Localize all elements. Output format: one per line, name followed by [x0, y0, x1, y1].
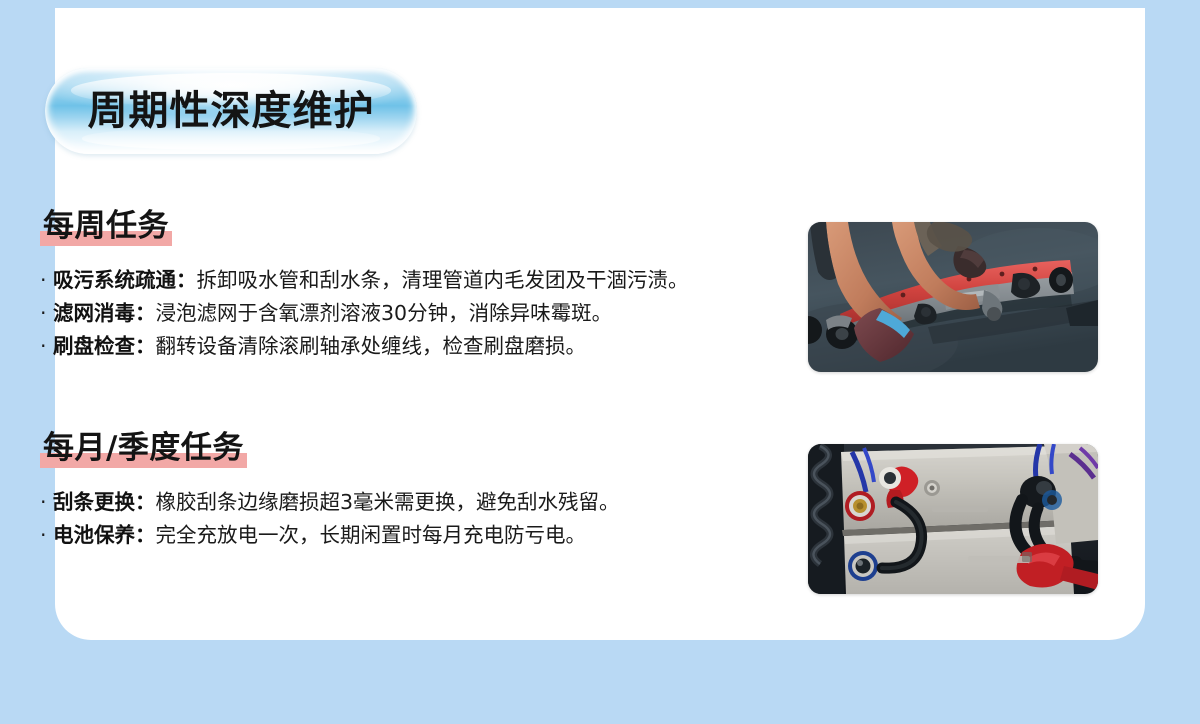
section-title-badge: 周期性深度维护 [45, 68, 417, 154]
bullet-dot-icon: · [40, 331, 53, 361]
bullet-text: 浸泡滤网于含氧漂剂溶液30分钟，消除异味霉斑。 [156, 301, 613, 325]
bullet-text: 翻转设备清除滚刷轴承处缠线，检查刷盘磨损。 [156, 334, 587, 358]
list-item: · 吸污系统疏通：拆卸吸水管和刮水条，清理管道内毛发团及干涸污渍。 [40, 265, 800, 295]
list-item: · 滤网消毒：浸泡滤网于含氧漂剂溶液30分钟，消除异味霉斑。 [40, 298, 800, 328]
bullet-label: 电池保养： [53, 523, 156, 547]
monthly-task-list: · 刮条更换：橡胶刮条边缘磨损超3毫米需更换，避免刮水残留。 · 电池保养：完全… [40, 487, 800, 551]
bullet-text: 拆卸吸水管和刮水条，清理管道内毛发团及干涸污渍。 [197, 268, 689, 292]
section-monthly-heading-text: 每月/季度任务 [43, 430, 244, 466]
weekly-task-list: · 吸污系统疏通：拆卸吸水管和刮水条，清理管道内毛发团及干涸污渍。 · 滤网消毒… [40, 265, 800, 362]
bullet-text: 橡胶刮条边缘磨损超3毫米需更换，避免刮水残留。 [156, 490, 620, 514]
bullet-label: 刷盘检查： [53, 334, 156, 358]
section-title-text: 周期性深度维护 [88, 91, 375, 131]
section-weekly-heading-text: 每周任务 [43, 208, 169, 244]
section-weekly-tasks: 每周任务 · 吸污系统疏通：拆卸吸水管和刮水条，清理管道内毛发团及干涸污渍。 ·… [40, 208, 800, 365]
bullet-text: 完全充放电一次，长期闲置时每月充电防亏电。 [156, 523, 587, 547]
bullet-label: 吸污系统疏通： [53, 268, 197, 292]
bullet-label: 滤网消毒： [53, 301, 156, 325]
bullet-label: 刮条更换： [53, 490, 156, 514]
bullet-dot-icon: · [40, 487, 53, 517]
bullet-dot-icon: · [40, 520, 53, 550]
bullet-dot-icon: · [40, 298, 53, 328]
page-root: 周期性深度维护 每周任务 · 吸污系统疏通：拆卸吸水管和刮水条，清理管道内毛发团… [0, 0, 1200, 724]
bullet-dot-icon: · [40, 265, 53, 295]
list-item: · 刷盘检查：翻转设备清除滚刷轴承处缠线，检查刷盘磨损。 [40, 331, 800, 361]
section-monthly-tasks: 每月/季度任务 · 刮条更换：橡胶刮条边缘磨损超3毫米需更换，避免刮水残留。 ·… [40, 430, 800, 553]
battery-maintenance-photo [808, 444, 1098, 594]
list-item: · 电池保养：完全充放电一次，长期闲置时每月充电防亏电。 [40, 520, 800, 550]
squeegee-maintenance-photo [808, 222, 1098, 372]
squeegee-photo-illustration [808, 222, 1098, 372]
battery-photo-illustration [808, 444, 1098, 594]
section-weekly-heading: 每周任务 [40, 208, 172, 247]
list-item: · 刮条更换：橡胶刮条边缘磨损超3毫米需更换，避免刮水残留。 [40, 487, 800, 517]
section-monthly-heading: 每月/季度任务 [40, 430, 247, 469]
